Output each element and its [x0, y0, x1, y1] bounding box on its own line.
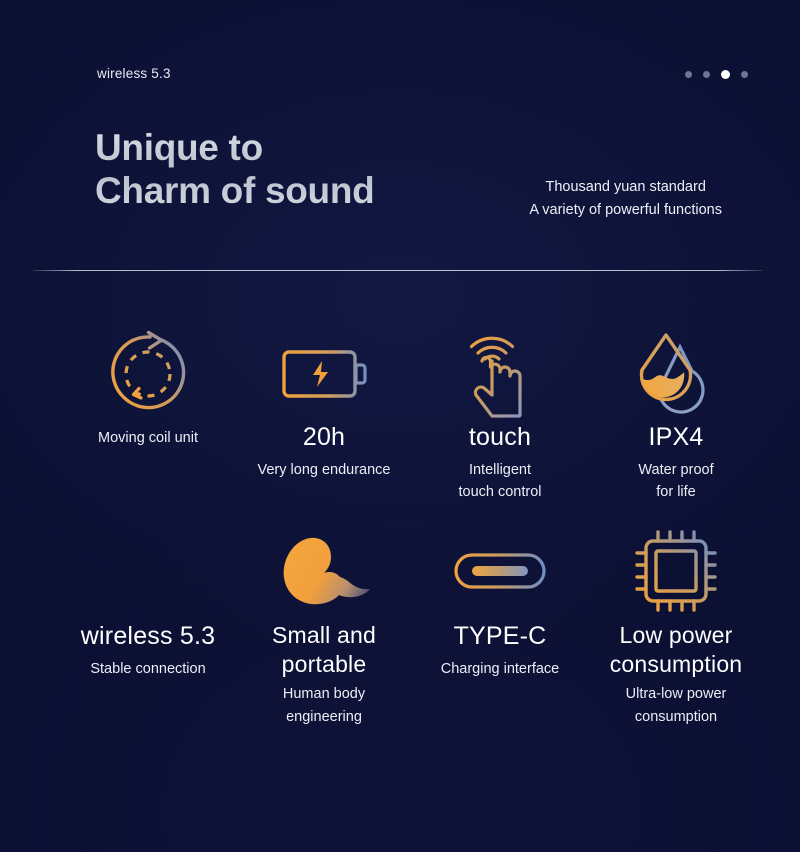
feature-desc: Ultra-low power consumption	[626, 683, 727, 728]
usb-type-c-port-icon	[450, 521, 550, 621]
page-tagline: Thousand yuan standard A variety of powe…	[529, 176, 722, 222]
feature-desc: Charging interface	[441, 658, 560, 680]
feature-title: IPX4	[649, 422, 704, 454]
feature-title: 20h	[303, 422, 345, 454]
feature-small-portable: Small and portable Human body engineerin…	[236, 521, 412, 728]
ear-shape-icon	[274, 521, 374, 621]
feature-desc: Intelligent touch control	[458, 459, 541, 504]
feature-title: wireless 5.3	[81, 621, 215, 653]
pagination-dot-3-active[interactable]	[721, 70, 730, 79]
pagination-dot-4[interactable]	[741, 71, 748, 78]
feature-title: TYPE-C	[454, 621, 547, 653]
cpu-chip-icon	[630, 521, 722, 621]
feature-title: Low power consumption	[588, 621, 764, 679]
feature-grid: Moving coil unit 2	[0, 322, 800, 728]
product-feature-slide: wireless 5.3 Unique to Charm of sound Th…	[0, 0, 800, 852]
feature-desc: Moving coil unit	[98, 427, 198, 449]
rotating-arrow-circle-icon	[100, 322, 196, 422]
feature-water-proof: IPX4 Water proof for life	[588, 322, 764, 503]
feature-endurance: 20h Very long endurance	[236, 322, 412, 503]
feature-low-power: Low power consumption Ultra-low power co…	[588, 521, 764, 728]
feature-row-2: wireless 5.3 Stable connection	[60, 521, 800, 728]
battery-charging-icon	[275, 322, 373, 422]
water-drops-icon	[630, 322, 722, 422]
feature-desc: Very long endurance	[257, 459, 390, 481]
feature-desc: Stable connection	[90, 658, 205, 680]
pagination-dot-1[interactable]	[685, 71, 692, 78]
feature-row-1: Moving coil unit 2	[60, 322, 800, 503]
eyebrow-label: wireless 5.3	[97, 66, 171, 81]
feature-desc: Human body engineering	[283, 683, 365, 728]
feature-title: touch	[469, 422, 531, 454]
feature-type-c: TYPE-C Charging interface	[412, 521, 588, 728]
pagination-dot-2[interactable]	[703, 71, 710, 78]
pagination-dots[interactable]	[685, 70, 748, 79]
feature-title: Small and portable	[236, 621, 412, 679]
page-title: Unique to Charm of sound	[95, 126, 374, 213]
feature-desc: Water proof for life	[638, 459, 713, 504]
feature-touch-control: touch Intelligent touch control	[412, 322, 588, 503]
feature-wireless: wireless 5.3 Stable connection	[60, 521, 236, 728]
feature-moving-coil-unit: Moving coil unit	[60, 322, 236, 503]
touch-hand-icon	[453, 322, 547, 422]
horizontal-divider	[33, 270, 762, 271]
